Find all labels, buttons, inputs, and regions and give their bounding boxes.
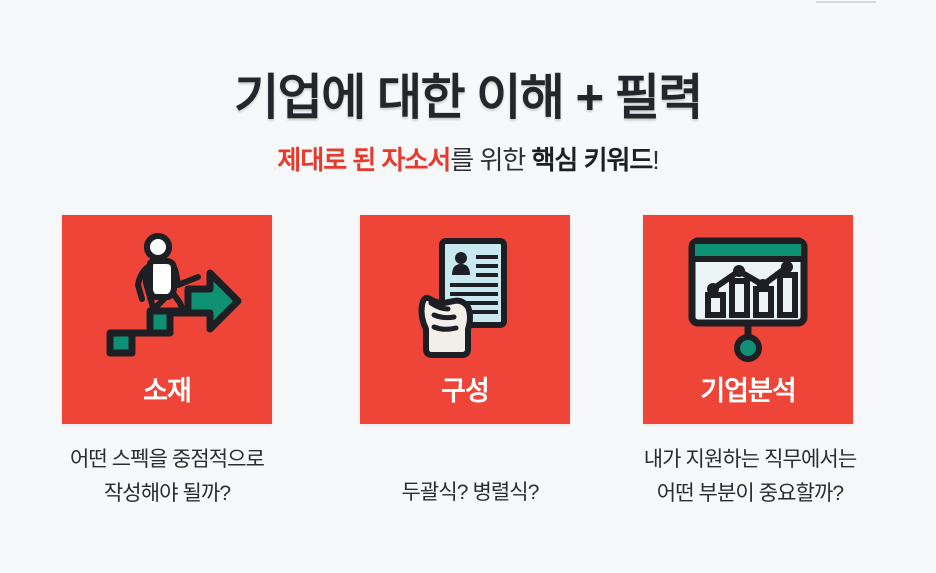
caption-gieopbunseok: 내가 지원하는 직무에서는 어떤 부분이 중요할까? <box>590 443 910 511</box>
subtitle-highlight: 제대로 된 자소서 <box>277 145 450 175</box>
page-subtitle: 제대로 된 자소서를 위한 핵심 키워드! <box>0 140 936 177</box>
subtitle-connector: 를 위한 <box>450 145 531 175</box>
card-gieopbunseok[interactable]: 기업분석 <box>643 215 853 424</box>
subtitle-emphasis: 핵심 키워드 <box>532 145 653 175</box>
card-guseong[interactable]: 구성 <box>360 215 570 424</box>
card-label: 기업분석 <box>643 369 853 408</box>
hand-holding-resume-icon <box>360 233 570 363</box>
caption-guseong: 두괄식? 병렬식? <box>310 476 630 510</box>
top-divider-rule <box>816 1 876 3</box>
caption-group: 어떤 스펙을 중점적으로 작성해야 될까? 두괄식? 병렬식? 내가 지원하는 … <box>0 443 936 553</box>
subtitle-exclamation: ! <box>652 145 658 175</box>
caption-line: 두괄식? 병렬식? <box>310 476 630 510</box>
caption-line: 어떤 부분이 중요할까? <box>590 477 910 511</box>
person-climbing-stairs-arrow-icon <box>62 233 272 363</box>
presentation-board-chart-icon <box>643 233 853 363</box>
caption-line: 어떤 스펙을 중점적으로 <box>7 443 327 477</box>
caption-line: 작성해야 될까? <box>7 477 327 511</box>
caption-line: 내가 지원하는 직무에서는 <box>590 443 910 477</box>
card-group: 소재 <box>0 215 936 430</box>
card-label: 소재 <box>62 369 272 408</box>
card-soje[interactable]: 소재 <box>62 215 272 424</box>
page-title: 기업에 대한 이해 + 필력 <box>0 58 936 129</box>
caption-soje: 어떤 스펙을 중점적으로 작성해야 될까? <box>7 443 327 511</box>
card-label: 구성 <box>360 369 570 408</box>
